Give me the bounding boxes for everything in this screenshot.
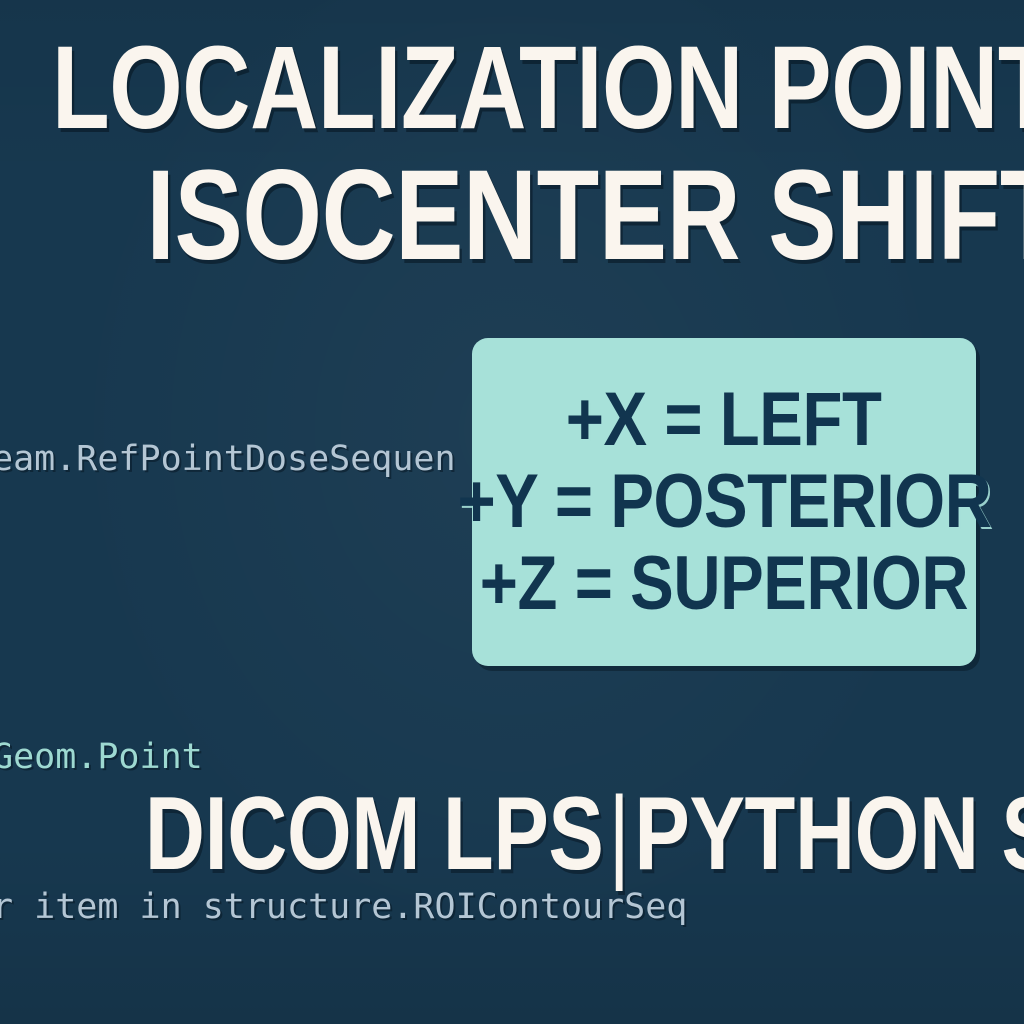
callout-line-y: +Y = POSTERIOR (457, 464, 991, 540)
footer-separator: | (604, 776, 635, 892)
headline-line-1: LOCALIZATION POINT→ (52, 34, 807, 143)
footer-caption-text: DICOM LPS|PYTHON SCRIPT (145, 782, 1024, 886)
footer-caption: DICOM LPS|PYTHON SCRIPT (0, 782, 1024, 886)
headline-line-1-text: LOCALIZATION POINT (52, 22, 1024, 154)
callout-line-z: +Z = SUPERIOR (480, 546, 968, 622)
page-title: LOCALIZATION POINT→ ISOCENTER SHIFTS (52, 34, 996, 274)
axis-convention-callout: +X = LEFT +Y = POSTERIOR +Z = SUPERIOR (472, 338, 976, 666)
callout-line-x: +X = LEFT (566, 382, 882, 458)
footer-right-label: PYTHON SCRIPT (634, 776, 1024, 892)
footer-left-label: DICOM LPS (145, 776, 604, 892)
headline-line-2: ISOCENTER SHIFTS (146, 157, 901, 275)
poster-canvas: LOCALIZATION POINT→ ISOCENTER SHIFTS eam… (0, 0, 1024, 1024)
code-line-3: Geom.Point (0, 732, 1024, 782)
